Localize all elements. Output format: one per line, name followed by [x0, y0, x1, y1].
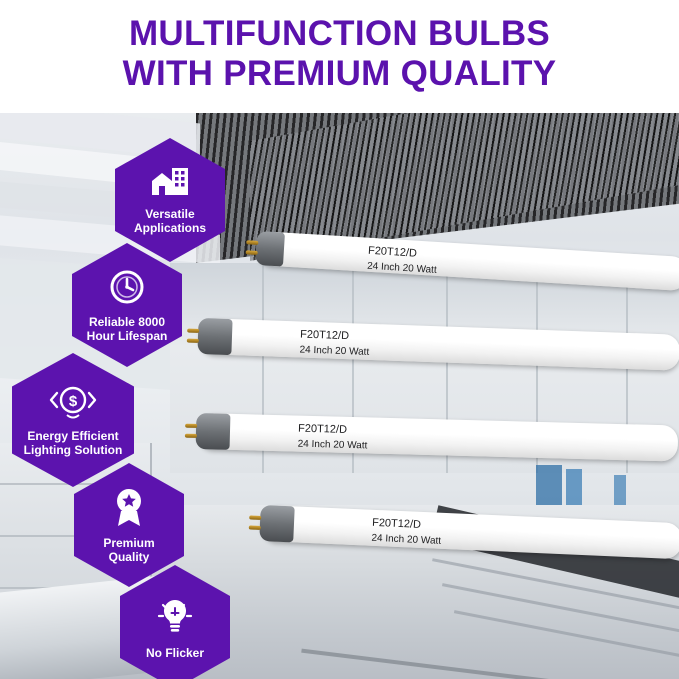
headline-line-1: MULTIFUNCTION BULBS: [129, 14, 550, 53]
clock-icon: [107, 267, 147, 312]
bulb-model: F20T12/D: [298, 423, 347, 436]
feature-line-1: Versatile: [145, 207, 194, 221]
tube-end-cap: [255, 231, 285, 267]
tube-end-cap: [196, 413, 231, 450]
feature-label: Reliable 8000 Hour Lifespan: [79, 316, 176, 343]
bulb-spec: 24 Inch 20 Watt: [371, 531, 441, 549]
feature-line-1: Energy Efficient: [27, 429, 118, 443]
feature-line-2: Hour Lifespan: [87, 329, 168, 343]
feature-line-2: Quality: [109, 550, 150, 564]
tube-pin: [246, 240, 258, 245]
feature-line-2: Applications: [134, 221, 206, 235]
tube-pin: [185, 424, 197, 428]
feature-badge-lifespan: Reliable 8000 Hour Lifespan: [72, 243, 182, 367]
product-photo: F20T12/D 24 Inch 20 Watt F20T12/D 24 Inc…: [0, 113, 679, 679]
tube-pin: [185, 434, 197, 438]
feature-label: Energy Efficient Lighting Solution: [16, 430, 131, 457]
svg-text:$: $: [69, 393, 78, 410]
bulb-model: F20T12/D: [368, 245, 418, 260]
award-ribbon-icon: [109, 486, 149, 533]
bulb-model: F20T12/D: [372, 517, 421, 531]
bulb-model: F20T12/D: [300, 328, 349, 342]
bulb-label: F20T12/D 24 Inch 20 Watt: [299, 327, 370, 359]
buildings-icon: [148, 165, 192, 204]
tube-end-cap: [259, 505, 295, 542]
lightbulb-icon: [153, 594, 197, 643]
feature-line-1: No Flicker: [146, 646, 204, 660]
headline-line-2: WITH PREMIUM QUALITY: [0, 54, 679, 94]
page-title: MULTIFUNCTION BULBS WITH PREMIUM QUALITY: [0, 14, 679, 94]
feature-badge-no-flicker: No Flicker: [120, 565, 230, 679]
tube-pin: [246, 250, 258, 255]
feature-label: Versatile Applications: [126, 208, 214, 235]
bulb-spec: 24 Inch 20 Watt: [297, 437, 367, 454]
tube-end-cap: [197, 318, 232, 355]
energy-saving-money-icon: $: [47, 383, 99, 426]
bulb-spec: 24 Inch 20 Watt: [299, 342, 369, 359]
feature-line-2: Lighting Solution: [24, 443, 123, 457]
tube-pin: [187, 339, 199, 343]
bulb-label: F20T12/D 24 Inch 20 Watt: [297, 422, 367, 454]
tube-pin: [249, 525, 261, 530]
product-infographic: MULTIFUNCTION BULBS WITH PREMIUM QUALITY: [0, 0, 679, 679]
tube-pin: [187, 329, 199, 333]
feature-label: No Flicker: [138, 647, 212, 661]
feature-line-1: Reliable 8000: [89, 315, 165, 329]
bulb-label: F20T12/D 24 Inch 20 Watt: [371, 516, 442, 549]
tube-pin: [249, 515, 261, 520]
bulb-label: F20T12/D 24 Inch 20 Watt: [367, 244, 438, 278]
feature-line-1: Premium: [103, 536, 154, 550]
feature-label: Premium Quality: [95, 537, 162, 564]
